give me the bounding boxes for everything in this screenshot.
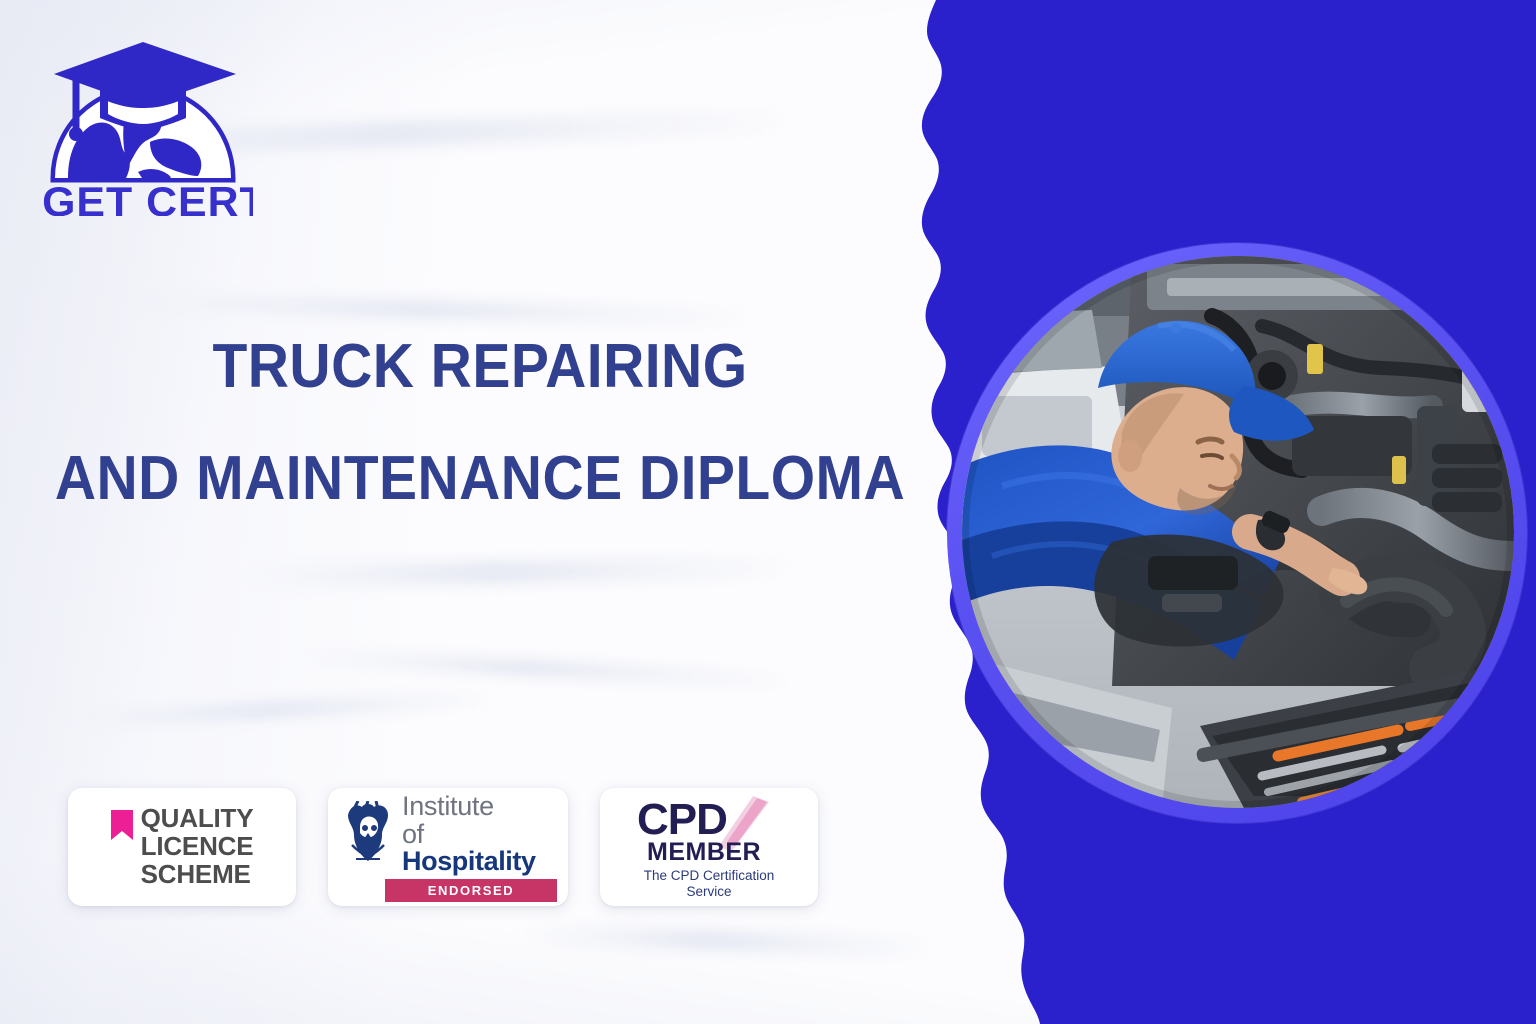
hero-title-line-2: AND MAINTENANCE DIPLOMA xyxy=(38,448,921,510)
badge-qls-line-2: LICENCE xyxy=(141,833,254,861)
badge-cpd-member[interactable]: CPD MEMBER The CPD Certification Service… xyxy=(600,788,818,906)
hero-title-line-1: TRUCK REPAIRING xyxy=(38,336,921,398)
crest-icon xyxy=(342,801,394,867)
badge-ioh-of: of xyxy=(402,819,424,849)
badge-quality-licence-scheme[interactable]: QUALITY LICENCE SCHEME xyxy=(68,788,296,906)
badge-cpd-sub-line-1: The CPD Certification xyxy=(644,868,775,884)
brand-logo-text: GET CERTIFY xyxy=(42,178,253,216)
bookmark-icon xyxy=(111,810,133,840)
hero-photo xyxy=(962,256,1514,808)
badge-institute-of-hospitality[interactable]: Institute of Hospitality ENDORSED xyxy=(328,788,568,906)
svg-text:CPD: CPD xyxy=(637,795,727,844)
graduation-cap-globe-icon xyxy=(54,42,236,178)
brand-logo[interactable]: GET CERTIFY xyxy=(38,26,253,216)
badge-cpd-sub-line-2: Service xyxy=(644,884,775,900)
hero-title: TRUCK REPAIRING AND MAINTENANCE DIPLOMA xyxy=(0,336,960,510)
badge-qls-line-3: SCHEME xyxy=(141,861,254,889)
badge-ioh-hospitality: Hospitality xyxy=(402,846,536,876)
cpd-logo-icon: CPD MEMBER xyxy=(635,794,783,866)
course-banner: GET CERTIFY GET CERTIFY TRUCK REPAIRING … xyxy=(0,0,1536,1024)
svg-text:MEMBER: MEMBER xyxy=(647,838,761,866)
badge-ioh-line-1: Institute xyxy=(402,793,554,820)
badge-ioh-endorsed-ribbon: ENDORSED xyxy=(385,879,557,902)
badge-qls-line-1: QUALITY xyxy=(141,805,254,833)
accreditation-badges: QUALITY LICENCE SCHEME xyxy=(68,788,818,906)
